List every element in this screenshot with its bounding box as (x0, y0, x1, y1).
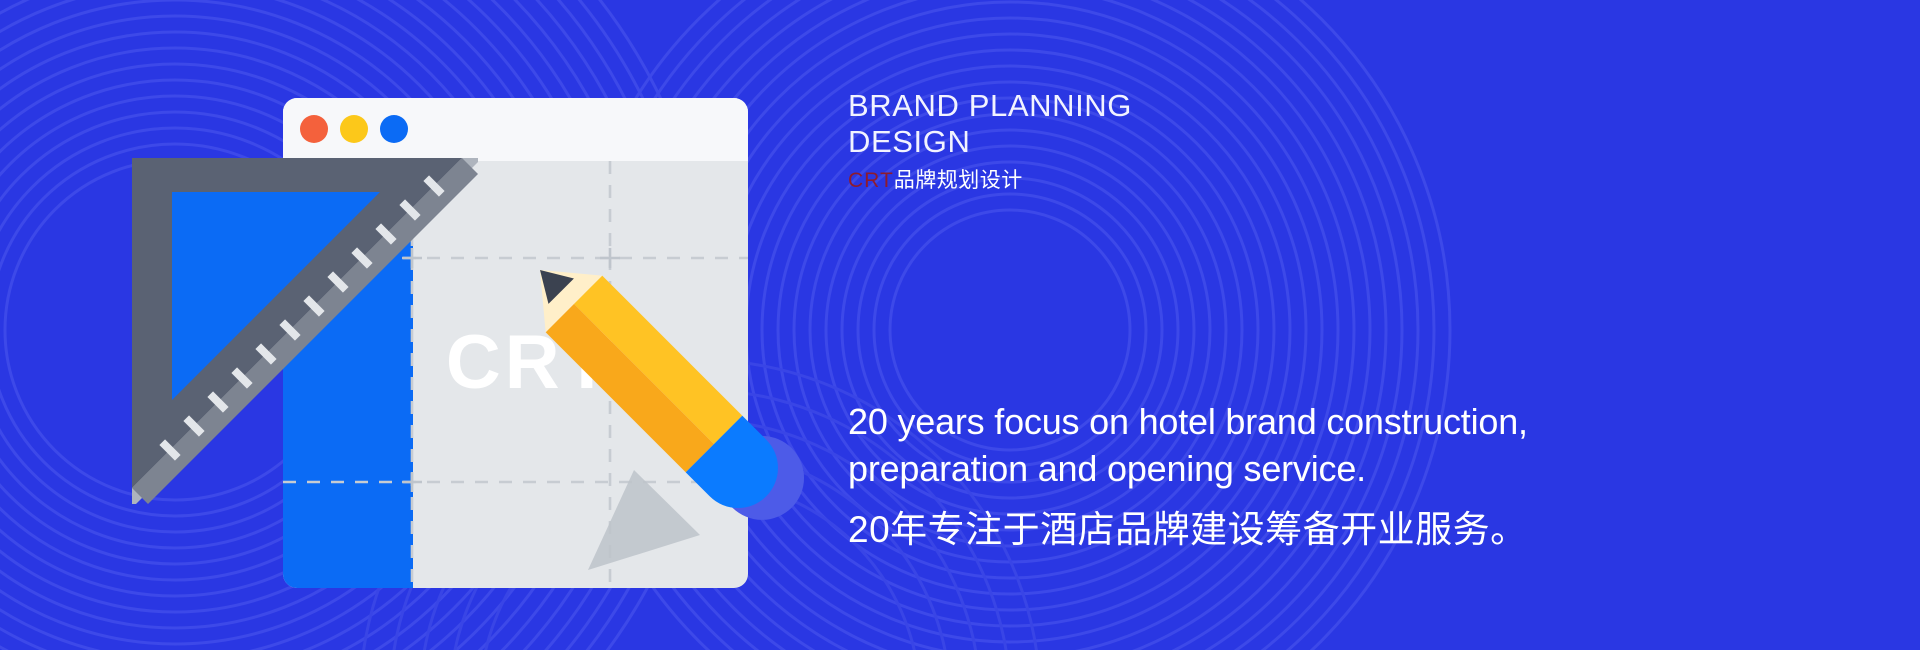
maximize-dot (380, 115, 408, 143)
heading-block: BRAND PLANNING DESIGN CRT品牌规划设计 (848, 88, 1132, 194)
heading-subtitle-text: 品牌规划设计 (894, 169, 1023, 192)
heading-line-1: BRAND PLANNING (848, 88, 1132, 124)
design-illustration: CRT (230, 70, 835, 630)
close-dot (300, 115, 328, 143)
body-english-line-1: 20 years focus on hotel brand constructi… (848, 398, 1528, 445)
brand-banner: CRT (0, 0, 1920, 650)
minimize-dot (340, 115, 368, 143)
body-chinese-line: 20年专注于酒店品牌建设筹备开业服务。 (848, 506, 1528, 554)
window-controls (300, 115, 408, 143)
crt-brand-mark: CRT (848, 169, 894, 192)
body-block: 20 years focus on hotel brand constructi… (848, 398, 1528, 554)
heading-line-2: DESIGN (848, 124, 1132, 160)
text-column: BRAND PLANNING DESIGN CRT品牌规划设计 20 years… (848, 0, 1848, 650)
heading-subtitle: CRT品牌规划设计 (848, 168, 1132, 194)
body-english-line-2: preparation and opening service. (848, 445, 1528, 492)
